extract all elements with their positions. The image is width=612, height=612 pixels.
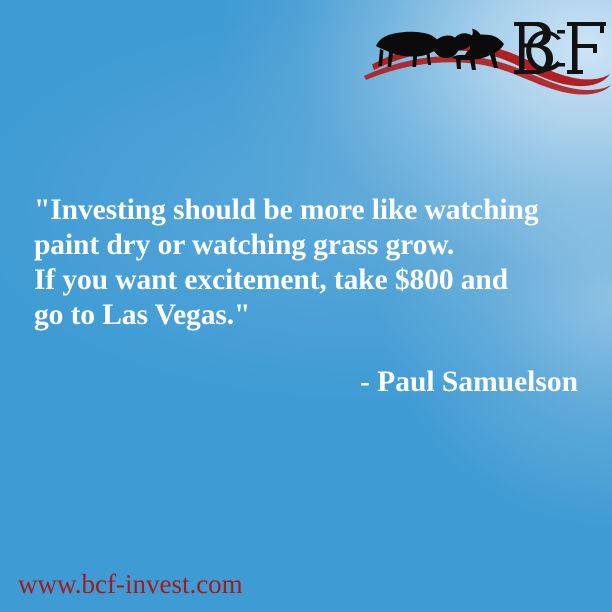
monogram-letter-f xyxy=(567,22,606,74)
quote-line: paint dry or watching grass grow. xyxy=(34,228,590,263)
quote-line: "Investing should be more like watching xyxy=(34,193,590,228)
quote-attribution: - Paul Samuelson xyxy=(0,365,578,400)
quote-line: If you want excitement, take $800 and xyxy=(34,263,590,298)
quote-line: go to Las Vegas." xyxy=(34,298,590,333)
quote-poster: "Investing should be more like watching … xyxy=(0,0,612,612)
bcf-logo[interactable] xyxy=(358,2,612,102)
quote-text-block: "Investing should be more like watching … xyxy=(34,193,590,333)
website-url[interactable]: www.bcf-invest.com xyxy=(18,568,243,600)
